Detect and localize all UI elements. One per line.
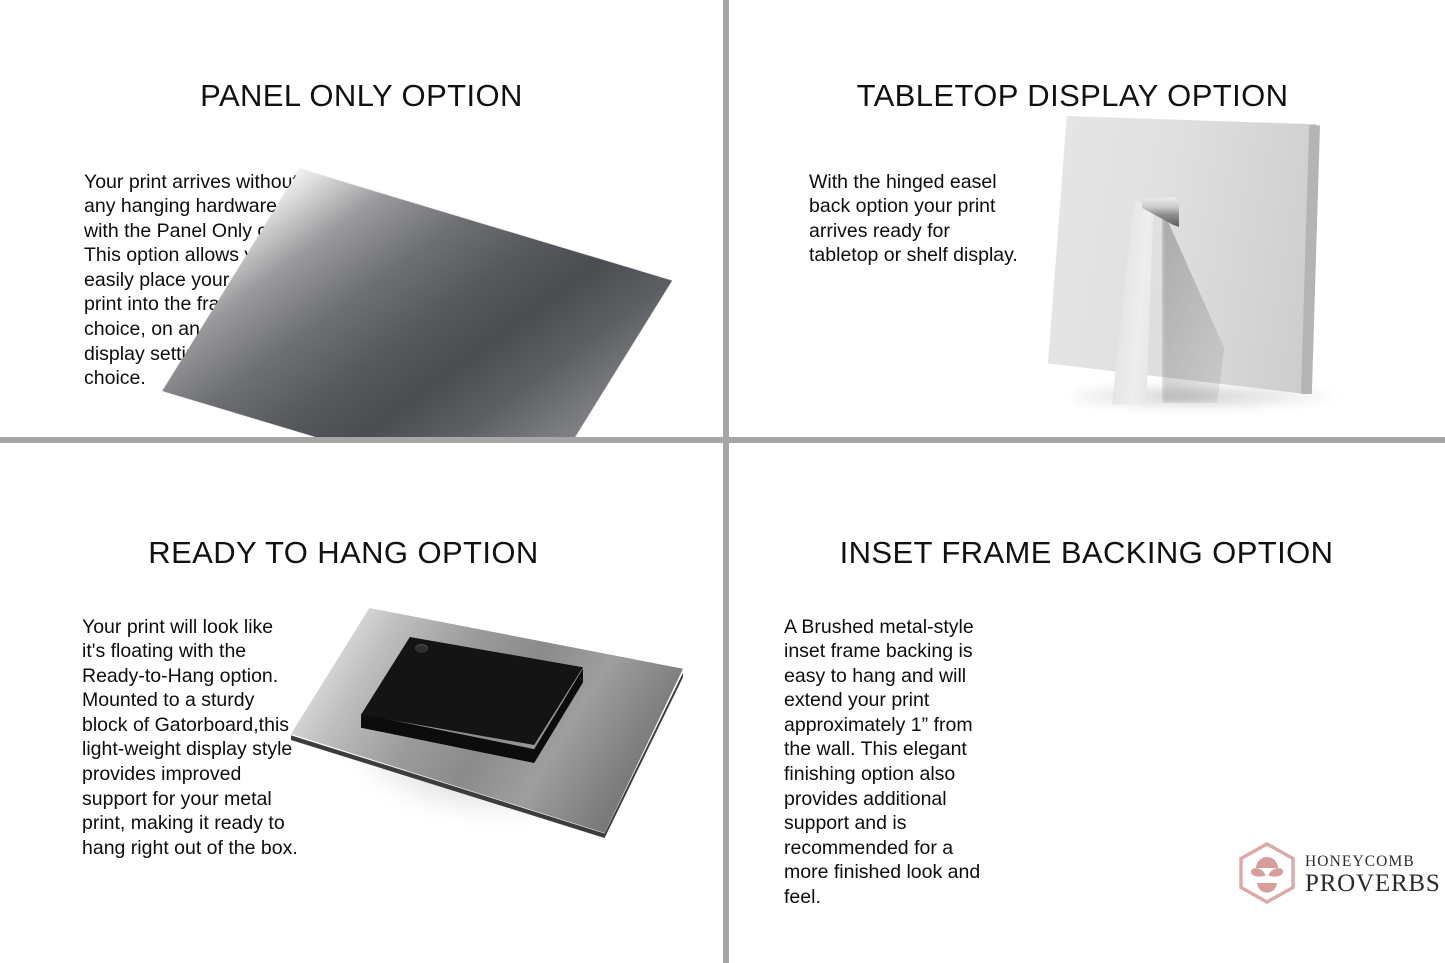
inset-frame-title: INSET FRAME BACKING OPTION	[729, 535, 1445, 571]
brand-logo: HONEYCOMB PROVERBS	[1238, 840, 1423, 910]
easel-back-panel-image	[1014, 112, 1404, 432]
brand-name-bottom: PROVERBS	[1305, 871, 1441, 896]
brand-wordmark: HONEYCOMB PROVERBS	[1305, 854, 1441, 897]
gatorboard-mount-image	[285, 600, 705, 885]
gatorboard-hanging-hole	[415, 644, 428, 653]
panel-only-title: PANEL ONLY OPTION	[0, 78, 723, 114]
tabletop-description: With the hinged easel back option your p…	[809, 170, 1024, 268]
divider-vertical	[723, 0, 729, 963]
ready-to-hang-title: READY TO HANG OPTION	[0, 535, 705, 571]
quadrant-panel-only: PANEL ONLY OPTION Your print arrives wit…	[0, 0, 723, 437]
honeycomb-bee-hexagon-icon	[1238, 842, 1296, 909]
inset-frame-description: A Brushed metal-style inset frame backin…	[784, 615, 989, 910]
brand-name-top: HONEYCOMB	[1305, 854, 1441, 870]
quadrant-tabletop-display: TABLETOP DISPLAY OPTION With the hinged …	[729, 0, 1445, 437]
tabletop-title: TABLETOP DISPLAY OPTION	[729, 78, 1434, 114]
ready-to-hang-description: Your print will look like it's floating …	[82, 615, 300, 861]
divider-horizontal	[0, 437, 1445, 443]
flat-metal-sheet-image	[300, 155, 700, 420]
